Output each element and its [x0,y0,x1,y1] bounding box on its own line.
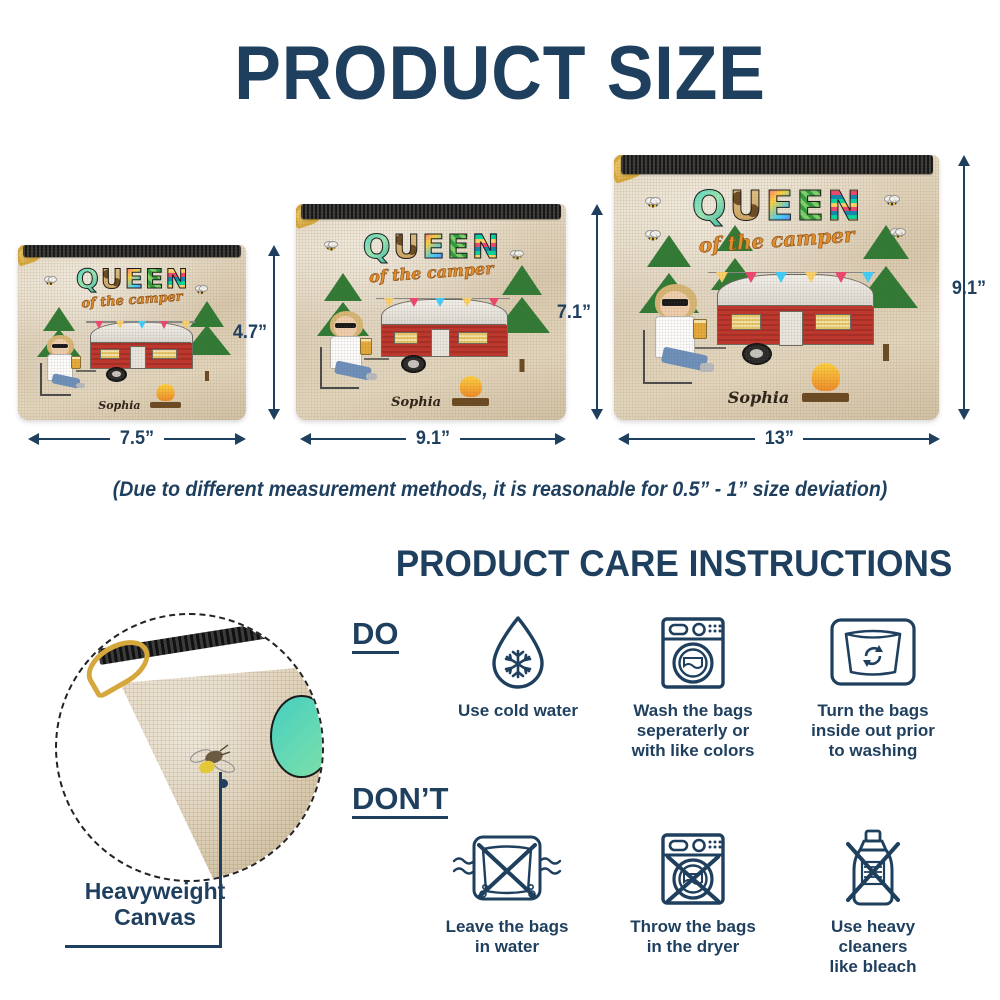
care-item-label: Turn the bags inside out prior to washin… [798,701,948,761]
design-letter: E [447,230,470,263]
design-letter: Q [692,186,727,227]
bee-icon [190,742,236,782]
bee-icon [645,230,661,243]
pouch-artwork-medium: Q U E E N of the camper [307,223,555,413]
no-soak-in-water-icon [432,828,582,910]
dont-section-label: DON’T [352,783,448,819]
design-letter: E [765,186,793,227]
pouch-body-small: Q U E E N of the camper [18,245,246,420]
woman-camper-figure [35,335,90,406]
dimension-height-large-label: 9.1” [952,278,986,300]
pouch-body-large: Q U E E N of the camper [614,155,939,420]
design-letter: U [101,266,123,293]
material-callout-label: Heavyweight Canvas [40,878,270,931]
bee-icon [890,228,906,241]
care-item-cold-water: Use cold water [443,612,593,721]
dimension-width-small-label: 7.5” [111,428,162,450]
pouch-artwork-small: Q U E E N of the camper [27,261,237,415]
bee-icon [884,195,900,208]
care-item-wash-separately: Wash the bags seperaterly or with like c… [618,612,768,761]
design-letter: Q [76,266,99,293]
pouch-medium: Q U E E N of the camper [296,204,566,420]
care-item-no-bleach: Use heavy cleaners like bleach [798,828,948,977]
material-callout-line2: Canvas [40,904,270,930]
personalized-name: Sophia [681,388,836,407]
design-letter: N [827,186,861,227]
design-letter: E [796,186,824,227]
pouch-artwork-large: Q U E E N of the camper [627,179,926,412]
design-letter: U [729,186,762,227]
product-infographic: PRODUCT SIZE Q U E [0,0,1000,1000]
care-item-no-dryer: Throw the bags in the dryer [618,828,768,957]
care-item-no-soak: Leave the bags in water [432,828,582,957]
dimension-height-medium-label: 7.1” [557,302,591,324]
personalized-name: Sophia [65,399,174,412]
no-tumble-dryer-icon [618,828,768,910]
dimension-width-medium: 9.1” [300,430,566,448]
care-item-label: Throw the bags in the dryer [618,917,768,957]
bee-icon [44,276,57,287]
pouch-large: Q U E E N of the camper [614,155,939,420]
design-letter-detail [270,695,324,779]
zipper-icon [301,204,560,219]
care-item-label: Leave the bags in water [432,917,582,957]
care-item-turn-inside-out: Turn the bags inside out prior to washin… [798,612,948,761]
turn-inside-out-icon [798,612,948,694]
design-letter: E [422,230,445,263]
dimension-width-medium-label: 9.1” [407,428,458,450]
design-letter: E [145,266,163,293]
care-item-label: Use heavy cleaners like bleach [798,917,948,977]
washing-machine-icon [618,612,768,694]
no-bleach-bottle-icon [798,828,948,910]
care-section-title: PRODUCT CARE INSTRUCTIONS [364,545,983,582]
care-item-label: Wash the bags seperaterly or with like c… [618,701,768,761]
bunting-flags-icon [376,296,510,313]
bee-icon [645,197,661,210]
bunting-flags-icon [86,319,195,331]
pouch-body-medium: Q U E E N of the camper [296,204,566,420]
do-section-label: DO [352,618,399,654]
material-callout-line1: Heavyweight [40,878,270,904]
design-letter: U [393,230,420,263]
bee-icon [510,250,524,262]
bee-icon [324,241,338,253]
dimension-height-small-label: 4.7” [233,322,267,344]
size-deviation-disclaimer: (Due to different measurement methods, i… [91,478,909,502]
pouch-small: Q U E E N of the camper [18,245,246,420]
bee-icon [195,285,208,296]
dimension-height-small [265,245,283,420]
page-title: PRODUCT SIZE [40,36,960,112]
dimension-width-large: 13” [618,430,940,448]
dimension-width-small: 7.5” [28,430,246,448]
design-letter: Q [363,230,391,263]
woman-camper-figure [314,311,384,402]
callout-leader-line-horizontal [65,945,222,948]
cold-water-droplet-icon [443,612,593,694]
design-letter: E [125,266,143,293]
zipper-icon [23,245,242,257]
woman-camper-figure [636,284,723,401]
bunting-flags-icon [708,270,875,293]
personalized-name: Sophia [352,395,481,410]
dimension-width-large-label: 13” [756,428,802,450]
material-detail-zoom [55,613,324,882]
zipper-icon [621,155,933,174]
care-item-label: Use cold water [443,701,593,721]
